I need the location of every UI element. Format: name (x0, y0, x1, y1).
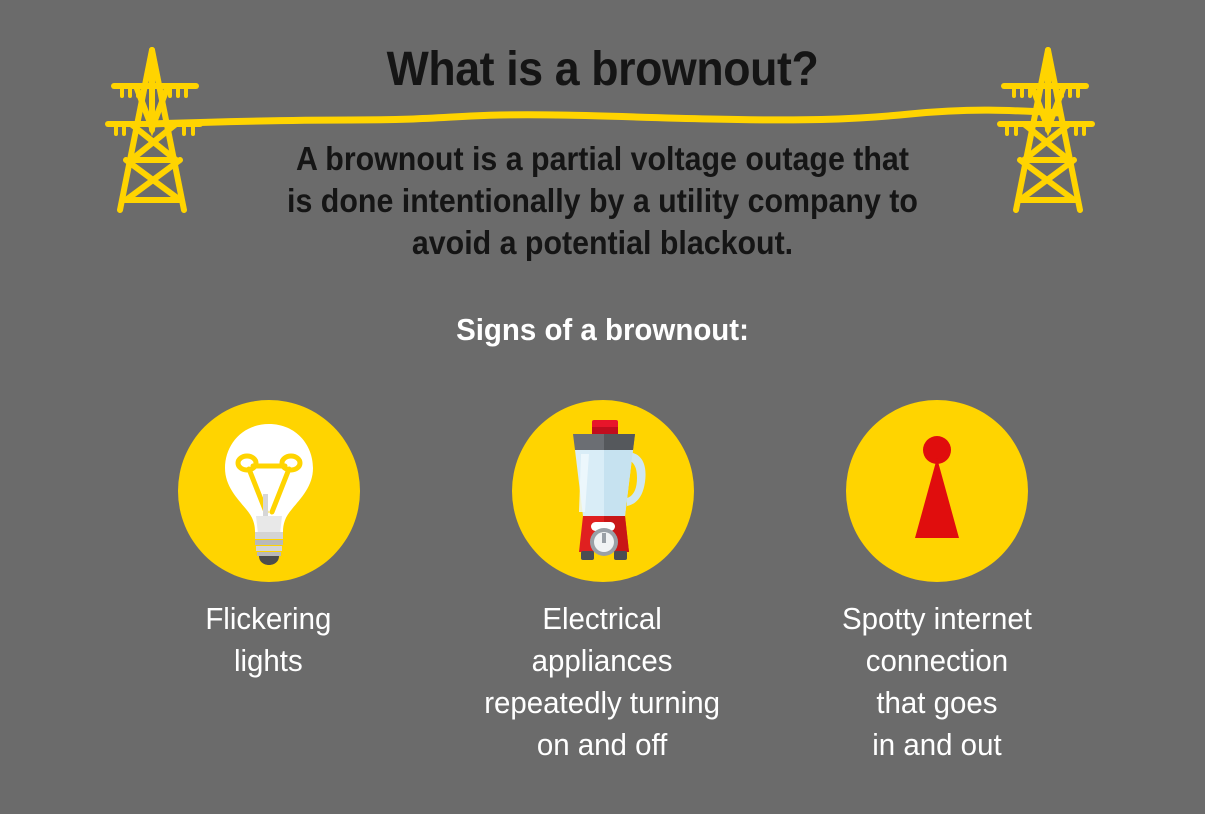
list-item-flickering-lights: Flickering lights (102, 400, 436, 682)
lede-line-2: is done intentionally by a utility compa… (48, 180, 1157, 222)
list-item-caption: Electrical appliances repeatedly turning… (485, 598, 721, 766)
list-item-caption: Spotty internet connection that goes in … (842, 598, 1032, 766)
icon-badge (512, 400, 694, 582)
list-item-spotty-internet: Spotty internet connection that goes in … (770, 400, 1104, 766)
lede-line-3: avoid a potential blackout. (48, 222, 1157, 264)
blender-appliance-icon (543, 416, 663, 566)
signs-list: Flickering lights (0, 400, 1205, 780)
lede-paragraph: A brownout is a partial voltage outage t… (48, 138, 1157, 264)
icon-badge (846, 400, 1028, 582)
list-item-caption: Flickering lights (205, 598, 331, 682)
page-title: What is a brownout? (42, 40, 1163, 100)
wifi-signal-icon (877, 416, 997, 566)
signs-heading: Signs of a brownout: (30, 312, 1175, 348)
lightbulb-icon (209, 416, 329, 566)
infographic-canvas: What is a brownout? A brownout is a part… (0, 0, 1205, 814)
lede-line-1: A brownout is a partial voltage outage t… (48, 138, 1157, 180)
list-item-electrical-appliances: Electrical appliances repeatedly turning… (436, 400, 770, 766)
icon-badge (178, 400, 360, 582)
header-band: What is a brownout? A brownout is a part… (0, 0, 1205, 230)
